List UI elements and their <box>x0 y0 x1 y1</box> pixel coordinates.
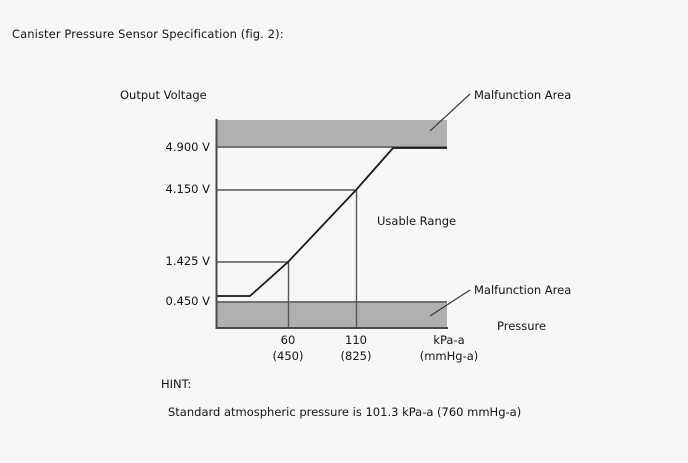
x-unit-primary-kpa: kPa-a <box>412 332 486 348</box>
x-tick-group-60kpa: 60 (450) <box>258 332 318 364</box>
hint-body-text: Standard atmospheric pressure is 101.3 k… <box>168 405 521 419</box>
x-tick-primary-110: 110 <box>326 332 386 348</box>
x-tick-secondary-450: (450) <box>258 348 318 364</box>
annotation-malfunction-area-upper: Malfunction Area <box>474 88 571 102</box>
y-tick-label-4900v: 4.900 V <box>136 140 210 154</box>
x-tick-group-110kpa: 110 (825) <box>326 332 386 364</box>
x-unit-secondary-mmhg: (mmHg-a) <box>412 348 486 364</box>
annotation-malfunction-area-lower: Malfunction Area <box>474 283 571 297</box>
malfunction-band-upper <box>217 120 447 146</box>
y-tick-label-4150v: 4.150 V <box>136 182 210 196</box>
y-tick-label-1425v: 1.425 V <box>136 254 210 268</box>
page-root: Canister Pressure Sensor Specification (… <box>0 0 688 463</box>
annotation-usable-range: Usable Range <box>377 214 456 228</box>
x-tick-secondary-825: (825) <box>326 348 386 364</box>
x-tick-primary-60: 60 <box>258 332 318 348</box>
malfunction-band-lower <box>217 303 447 328</box>
hint-heading: HINT: <box>161 377 191 391</box>
y-tick-label-0450v: 0.450 V <box>136 294 210 308</box>
leader-line-malfunction-upper <box>430 94 470 131</box>
sensor-specification-figure: Output Voltage Pressure 4.900 V 4.150 V … <box>0 0 688 463</box>
x-axis-title: Pressure <box>497 319 546 333</box>
figure-canvas <box>0 0 688 463</box>
y-axis-title: Output Voltage <box>120 88 207 102</box>
x-tick-group-units: kPa-a (mmHg-a) <box>412 332 486 364</box>
